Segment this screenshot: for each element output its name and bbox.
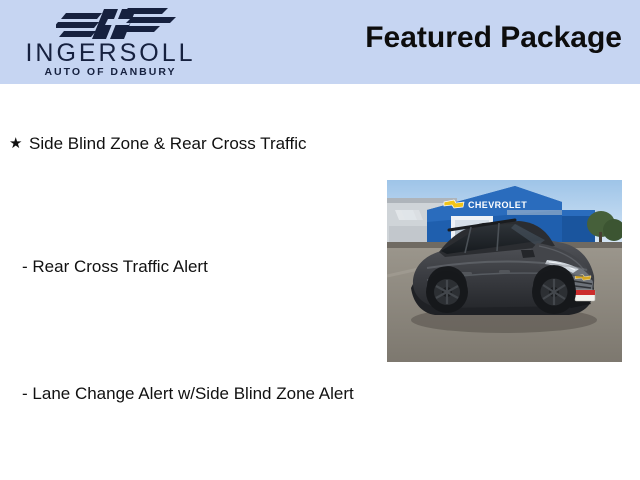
bullet-item-sub-1: - Rear Cross Traffic Alert: [22, 256, 382, 278]
svg-text:CHEVROLET: CHEVROLET: [468, 200, 527, 210]
bullet-label-sub-1: Rear Cross Traffic Alert: [32, 257, 207, 276]
brand-tagline: AUTO OF DANBURY: [8, 66, 213, 78]
dealer-logo: INGERSOLL AUTO OF DANBURY: [8, 2, 213, 82]
sub-bullet-line-2: - Lane Change Alert w/Side Blind Zone Al…: [22, 383, 354, 405]
header-band: INGERSOLL AUTO OF DANBURY Featured Packa…: [0, 0, 640, 84]
bullet-label-sub-2: Lane Change Alert w/Side Blind Zone Aler…: [32, 384, 353, 403]
star-bullet-icon: ★: [9, 133, 29, 155]
dash-bullet-icon: -: [22, 257, 28, 276]
slide-featured-package: INGERSOLL AUTO OF DANBURY Featured Packa…: [0, 0, 640, 480]
page-title: Featured Package: [365, 21, 622, 55]
brand-wordmark: INGERSOLL: [8, 40, 213, 66]
bullet-label-primary: Side Blind Zone & Rear Cross Traffic: [29, 133, 306, 155]
vehicle-photo: CHEVROLET: [387, 180, 622, 362]
dash-bullet-icon: -: [22, 384, 28, 403]
sub-bullet-line-1: - Rear Cross Traffic Alert: [22, 256, 208, 278]
bullet-item-sub-2: - Lane Change Alert w/Side Blind Zone Al…: [22, 383, 367, 405]
bullet-item-primary: ★ Side Blind Zone & Rear Cross Traffic: [9, 133, 389, 155]
ingersoll-winged-emblem-icon: [56, 5, 178, 41]
